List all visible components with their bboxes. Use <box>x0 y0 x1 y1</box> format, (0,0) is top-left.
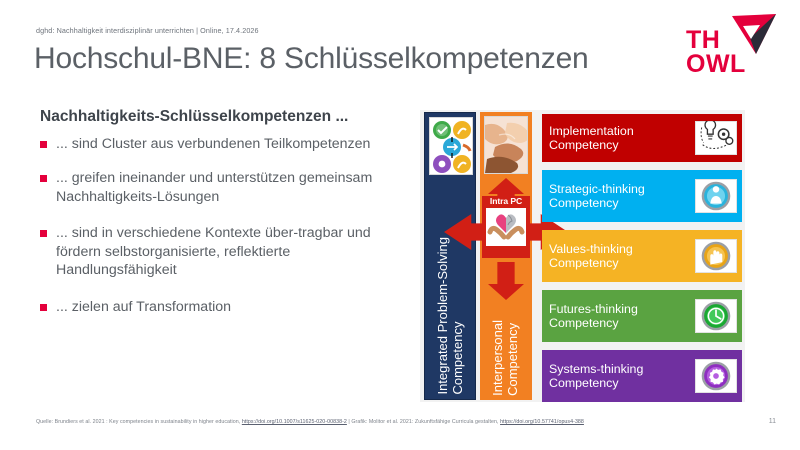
slide: dghd: Nachhaltigkeit interdisziplinär un… <box>0 0 800 450</box>
list-item-label: ... greifen ineinander und unterstützen … <box>56 169 410 206</box>
integrated-problem-solving-label: Integrated Problem-Solving Competency <box>436 237 466 395</box>
footer-graphic-link[interactable]: https://doi.org/10.57741/opus4-388 <box>500 419 584 425</box>
competency-bar-futures-thinking: Futures-thinking Competency <box>542 290 742 342</box>
competency-cluster-icon <box>429 117 473 175</box>
list-item: ... zielen auf Transformation <box>40 298 410 316</box>
list-item: ... sind Cluster aus verbundenen Teilkom… <box>40 135 410 153</box>
competency-bar-label: Strategic-thinking Competency <box>549 182 695 211</box>
interpersonal-competency-label: Interpersonal Competency <box>491 320 521 396</box>
competency-bar-strategic-thinking: Strategic-thinking Competency <box>542 170 742 222</box>
footer-citation: Quelle: Brundiers et al. 2021 : Key comp… <box>36 419 584 425</box>
list-item: ... greifen ineinander und unterstützen … <box>40 169 410 206</box>
gear-icon <box>695 359 737 393</box>
bullet-square-icon <box>40 141 47 148</box>
list-item-label: ... sind in verschiedene Kontexte über-t… <box>56 224 410 279</box>
joined-hands-photo <box>484 116 528 174</box>
competency-bar-implementation: Implementation Competency <box>542 114 742 162</box>
integrated-problem-solving-column: Integrated Problem-Solving Competency <box>424 112 476 400</box>
logo-text-owl: OWL <box>686 52 746 77</box>
integrated-problem-solving-label-wrap: Integrated Problem-Solving Competency <box>425 180 477 395</box>
slide-eyebrow: dghd: Nachhaltigkeit interdisziplinär un… <box>36 26 259 35</box>
footer-source-prefix: Quelle: Brundiers et al. 2021 : Key comp… <box>36 419 242 425</box>
competency-bar-label: Implementation Competency <box>549 124 695 153</box>
lightbulb-gears-icon <box>695 121 737 155</box>
footer-source-link[interactable]: https://doi.org/10.1007/s11625-020-00838… <box>242 419 347 425</box>
page-title: Hochschul-BNE: 8 Schlüsselkompetenzen <box>34 42 589 76</box>
open-hand-icon <box>695 239 737 273</box>
bullet-list: ... sind Cluster aus verbundenen Teilkom… <box>40 135 410 332</box>
competency-bar-label: Values-thinking Competency <box>549 242 695 271</box>
bullet-square-icon <box>40 230 47 237</box>
intra-pc-label: Intra PC <box>490 197 522 206</box>
competency-bar-list: Implementation Competency Strategic-thin… <box>542 112 742 400</box>
list-item: ... sind in verschiedene Kontexte über-t… <box>40 224 410 279</box>
competency-bar-label: Systems-thinking Competency <box>549 362 695 391</box>
competency-diagram: Integrated Problem-Solving Competency In… <box>420 110 745 402</box>
page-number: 11 <box>769 418 776 425</box>
bullet-square-icon <box>40 175 47 182</box>
competency-bar-values-thinking: Values-thinking Competency <box>542 230 742 282</box>
content-subheading: Nachhaltigkeits-Schlüsselkompetenzen ... <box>40 108 348 126</box>
th-owl-logo: TH OWL <box>686 10 782 82</box>
competency-bar-label: Futures-thinking Competency <box>549 302 695 331</box>
chess-pawn-icon <box>695 179 737 213</box>
intra-personal-competency-hub: Intra PC <box>482 196 530 258</box>
list-item-label: ... sind Cluster aus verbundenen Teilkom… <box>56 135 370 153</box>
heart-brain-hands-icon <box>486 208 526 246</box>
footer-graphic-prefix: | Grafik: Molitor et al. 2021: Zukunftsf… <box>347 419 500 425</box>
clock-icon <box>695 299 737 333</box>
competency-bar-systems-thinking: Systems-thinking Competency <box>542 350 742 402</box>
bullet-square-icon <box>40 304 47 311</box>
list-item-label: ... zielen auf Transformation <box>56 298 231 316</box>
